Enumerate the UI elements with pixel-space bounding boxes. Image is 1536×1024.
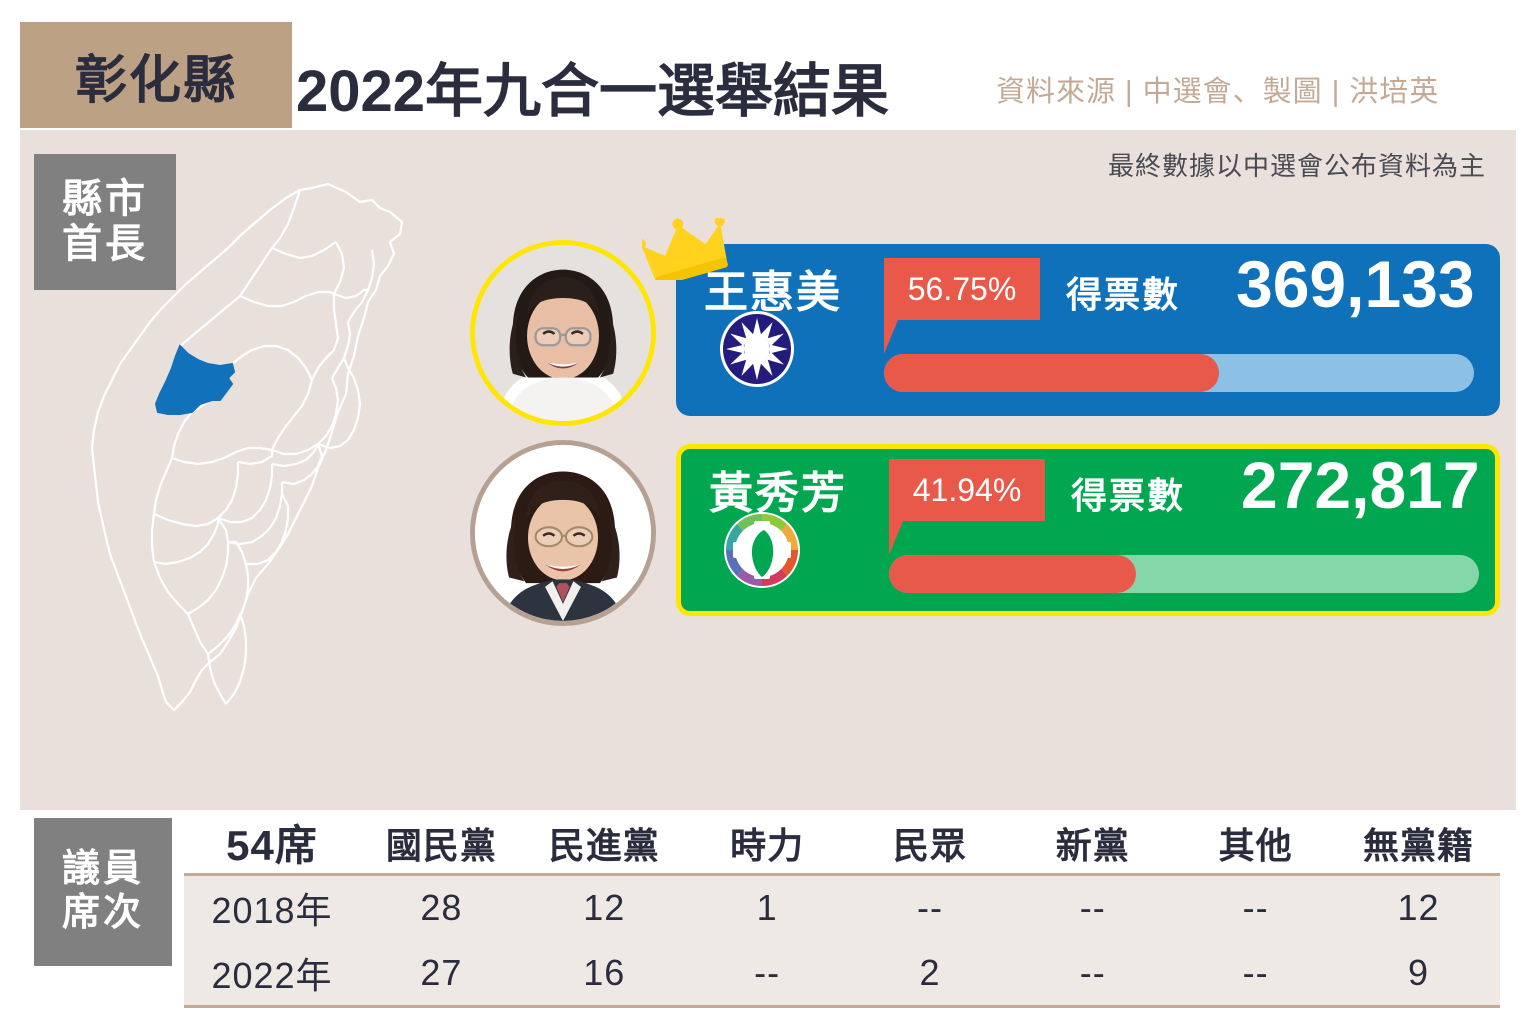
percent-value: 41.94% [913, 472, 1022, 509]
candidate-row: 黃秀芳 [460, 440, 1500, 620]
votes-number: 272,817 [1241, 447, 1480, 523]
percent-callout: 56.75% [884, 258, 1040, 320]
table-cell: -- [849, 875, 1012, 941]
vote-bar-track [884, 354, 1474, 392]
section-label-seats-line2: 席次 [62, 893, 144, 935]
table-header-cell: 國民黨 [360, 812, 523, 875]
table-header-cell: 時力 [686, 812, 849, 875]
percent-callout: 41.94% [889, 459, 1045, 521]
infographic-root: 彰化縣 2022年九合一選舉結果 資料來源 | 中選會、製圖 | 洪培英 最終數… [0, 0, 1536, 1024]
table-header-cell: 新黨 [1011, 812, 1174, 875]
candidate-row: 王惠美 [460, 240, 1500, 420]
table-cell: -- [686, 941, 849, 1007]
dpp-emblem-icon [723, 511, 801, 589]
header: 彰化縣 2022年九合一選舉結果 資料來源 | 中選會、製圖 | 洪培英 [0, 0, 1536, 128]
table-cell: 12 [523, 875, 686, 941]
mayor-result-panel: 最終數據以中選會公布資料為主 縣市 首長 [20, 130, 1516, 810]
taiwan-map [50, 150, 450, 800]
table-cell: 9 [1337, 941, 1500, 1007]
table-cell: -- [1174, 875, 1337, 941]
votes-number: 369,133 [1236, 246, 1475, 322]
table-header-row: 54席 國民黨 民進黨 時力 民眾 新黨 其他 無黨籍 [184, 812, 1500, 875]
section-label-seats-line1: 議員 [62, 849, 144, 891]
table-cell: 1 [686, 875, 849, 941]
percent-callout-tail [889, 521, 903, 555]
county-name: 彰化縣 [75, 38, 237, 113]
table-cell: -- [1174, 941, 1337, 1007]
table-cell: 12 [1337, 875, 1500, 941]
vote-bar-track [889, 555, 1479, 593]
candidate-photo [470, 240, 656, 426]
source-credit: 資料來源 | 中選會、製圖 | 洪培英 [996, 68, 1439, 110]
table-cell-year: 2018年 [184, 875, 360, 941]
percent-callout-tail [884, 320, 898, 354]
page-title: 2022年九合一選舉結果 [296, 44, 889, 128]
map-highlight-changhua [156, 346, 234, 414]
table-cell: 28 [360, 875, 523, 941]
candidate-card: 王惠美 [676, 244, 1500, 416]
table-header-cell: 54席 [184, 812, 360, 875]
table-cell: 27 [360, 941, 523, 1007]
table-cell: 16 [523, 941, 686, 1007]
section-label-seats: 議員 席次 [34, 818, 172, 966]
table-cell-year: 2022年 [184, 941, 360, 1007]
candidate-card: 黃秀芳 [676, 444, 1500, 616]
table-row: 2018年 28 12 1 -- -- -- 12 [184, 875, 1500, 941]
crown-icon [642, 218, 728, 280]
table-cell: 2 [849, 941, 1012, 1007]
table-cell: -- [1011, 941, 1174, 1007]
table-row: 2022年 27 16 -- 2 -- -- 9 [184, 941, 1500, 1007]
votes-label: 得票數 [1071, 467, 1185, 519]
kmt-sun-emblem-icon [718, 310, 796, 388]
table-header-cell: 民進黨 [523, 812, 686, 875]
seats-table: 54席 國民黨 民進黨 時力 民眾 新黨 其他 無黨籍 2018年 28 12 … [184, 812, 1500, 1008]
table-header-cell: 民眾 [849, 812, 1012, 875]
table-header-cell: 其他 [1174, 812, 1337, 875]
percent-value: 56.75% [908, 271, 1017, 308]
candidate-photo [470, 440, 656, 626]
vote-bar-fill [884, 354, 1219, 392]
county-tab: 彰化縣 [20, 22, 292, 128]
table-header-cell: 無黨籍 [1337, 812, 1500, 875]
vote-bar-fill [889, 555, 1136, 593]
disclaimer-text: 最終數據以中選會公布資料為主 [1108, 146, 1486, 183]
table-cell: -- [1011, 875, 1174, 941]
votes-label: 得票數 [1066, 266, 1180, 318]
